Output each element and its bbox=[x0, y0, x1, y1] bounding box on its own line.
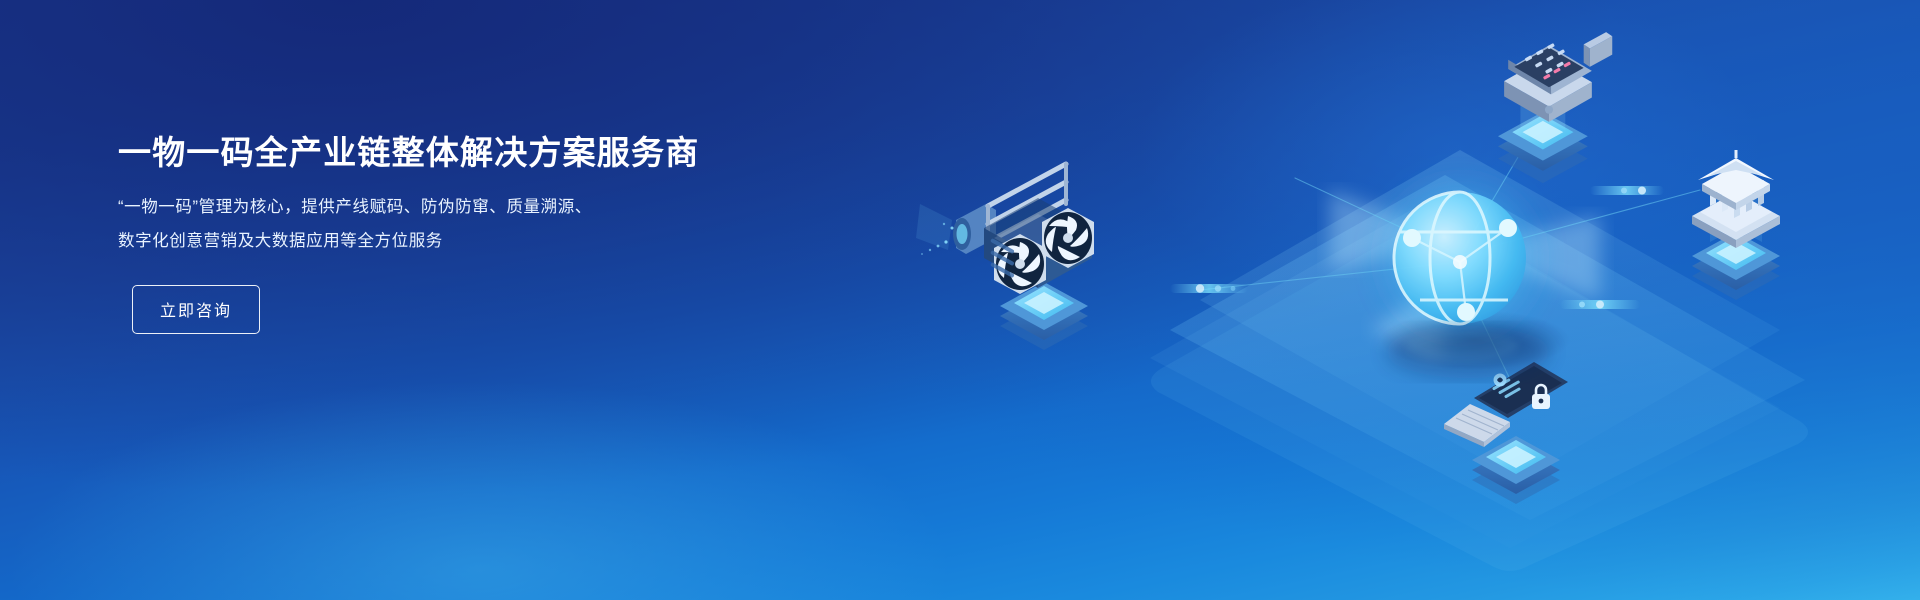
hero-subtitle-line-2: 数字化创意营销及大数据应用等全方位服务 bbox=[118, 225, 838, 259]
pedestal-server bbox=[1000, 282, 1088, 350]
page-title: 一物一码全产业链整体解决方案服务商 bbox=[118, 132, 838, 173]
hero-illustration bbox=[900, 0, 1920, 600]
bank-building bbox=[1692, 150, 1780, 300]
pos-terminal bbox=[1498, 32, 1612, 183]
pedestal-pos bbox=[1498, 112, 1588, 183]
hero-subtitle-line-1: “一物一码”管理为核心，提供产线赋码、防伪防窜、质量溯源、 bbox=[118, 191, 838, 225]
server-rack bbox=[916, 164, 1094, 350]
hero-copy: 一物一码全产业链整体解决方案服务商 “一物一码”管理为核心，提供产线赋码、防伪防… bbox=[118, 132, 838, 334]
consult-now-button[interactable]: 立即咨询 bbox=[132, 285, 260, 334]
hero-banner: 一物一码全产业链整体解决方案服务商 “一物一码”管理为核心，提供产线赋码、防伪防… bbox=[0, 0, 1920, 600]
hero-subtitle: “一物一码”管理为核心，提供产线赋码、防伪防窜、质量溯源、 数字化创意营销及大数… bbox=[118, 191, 838, 259]
